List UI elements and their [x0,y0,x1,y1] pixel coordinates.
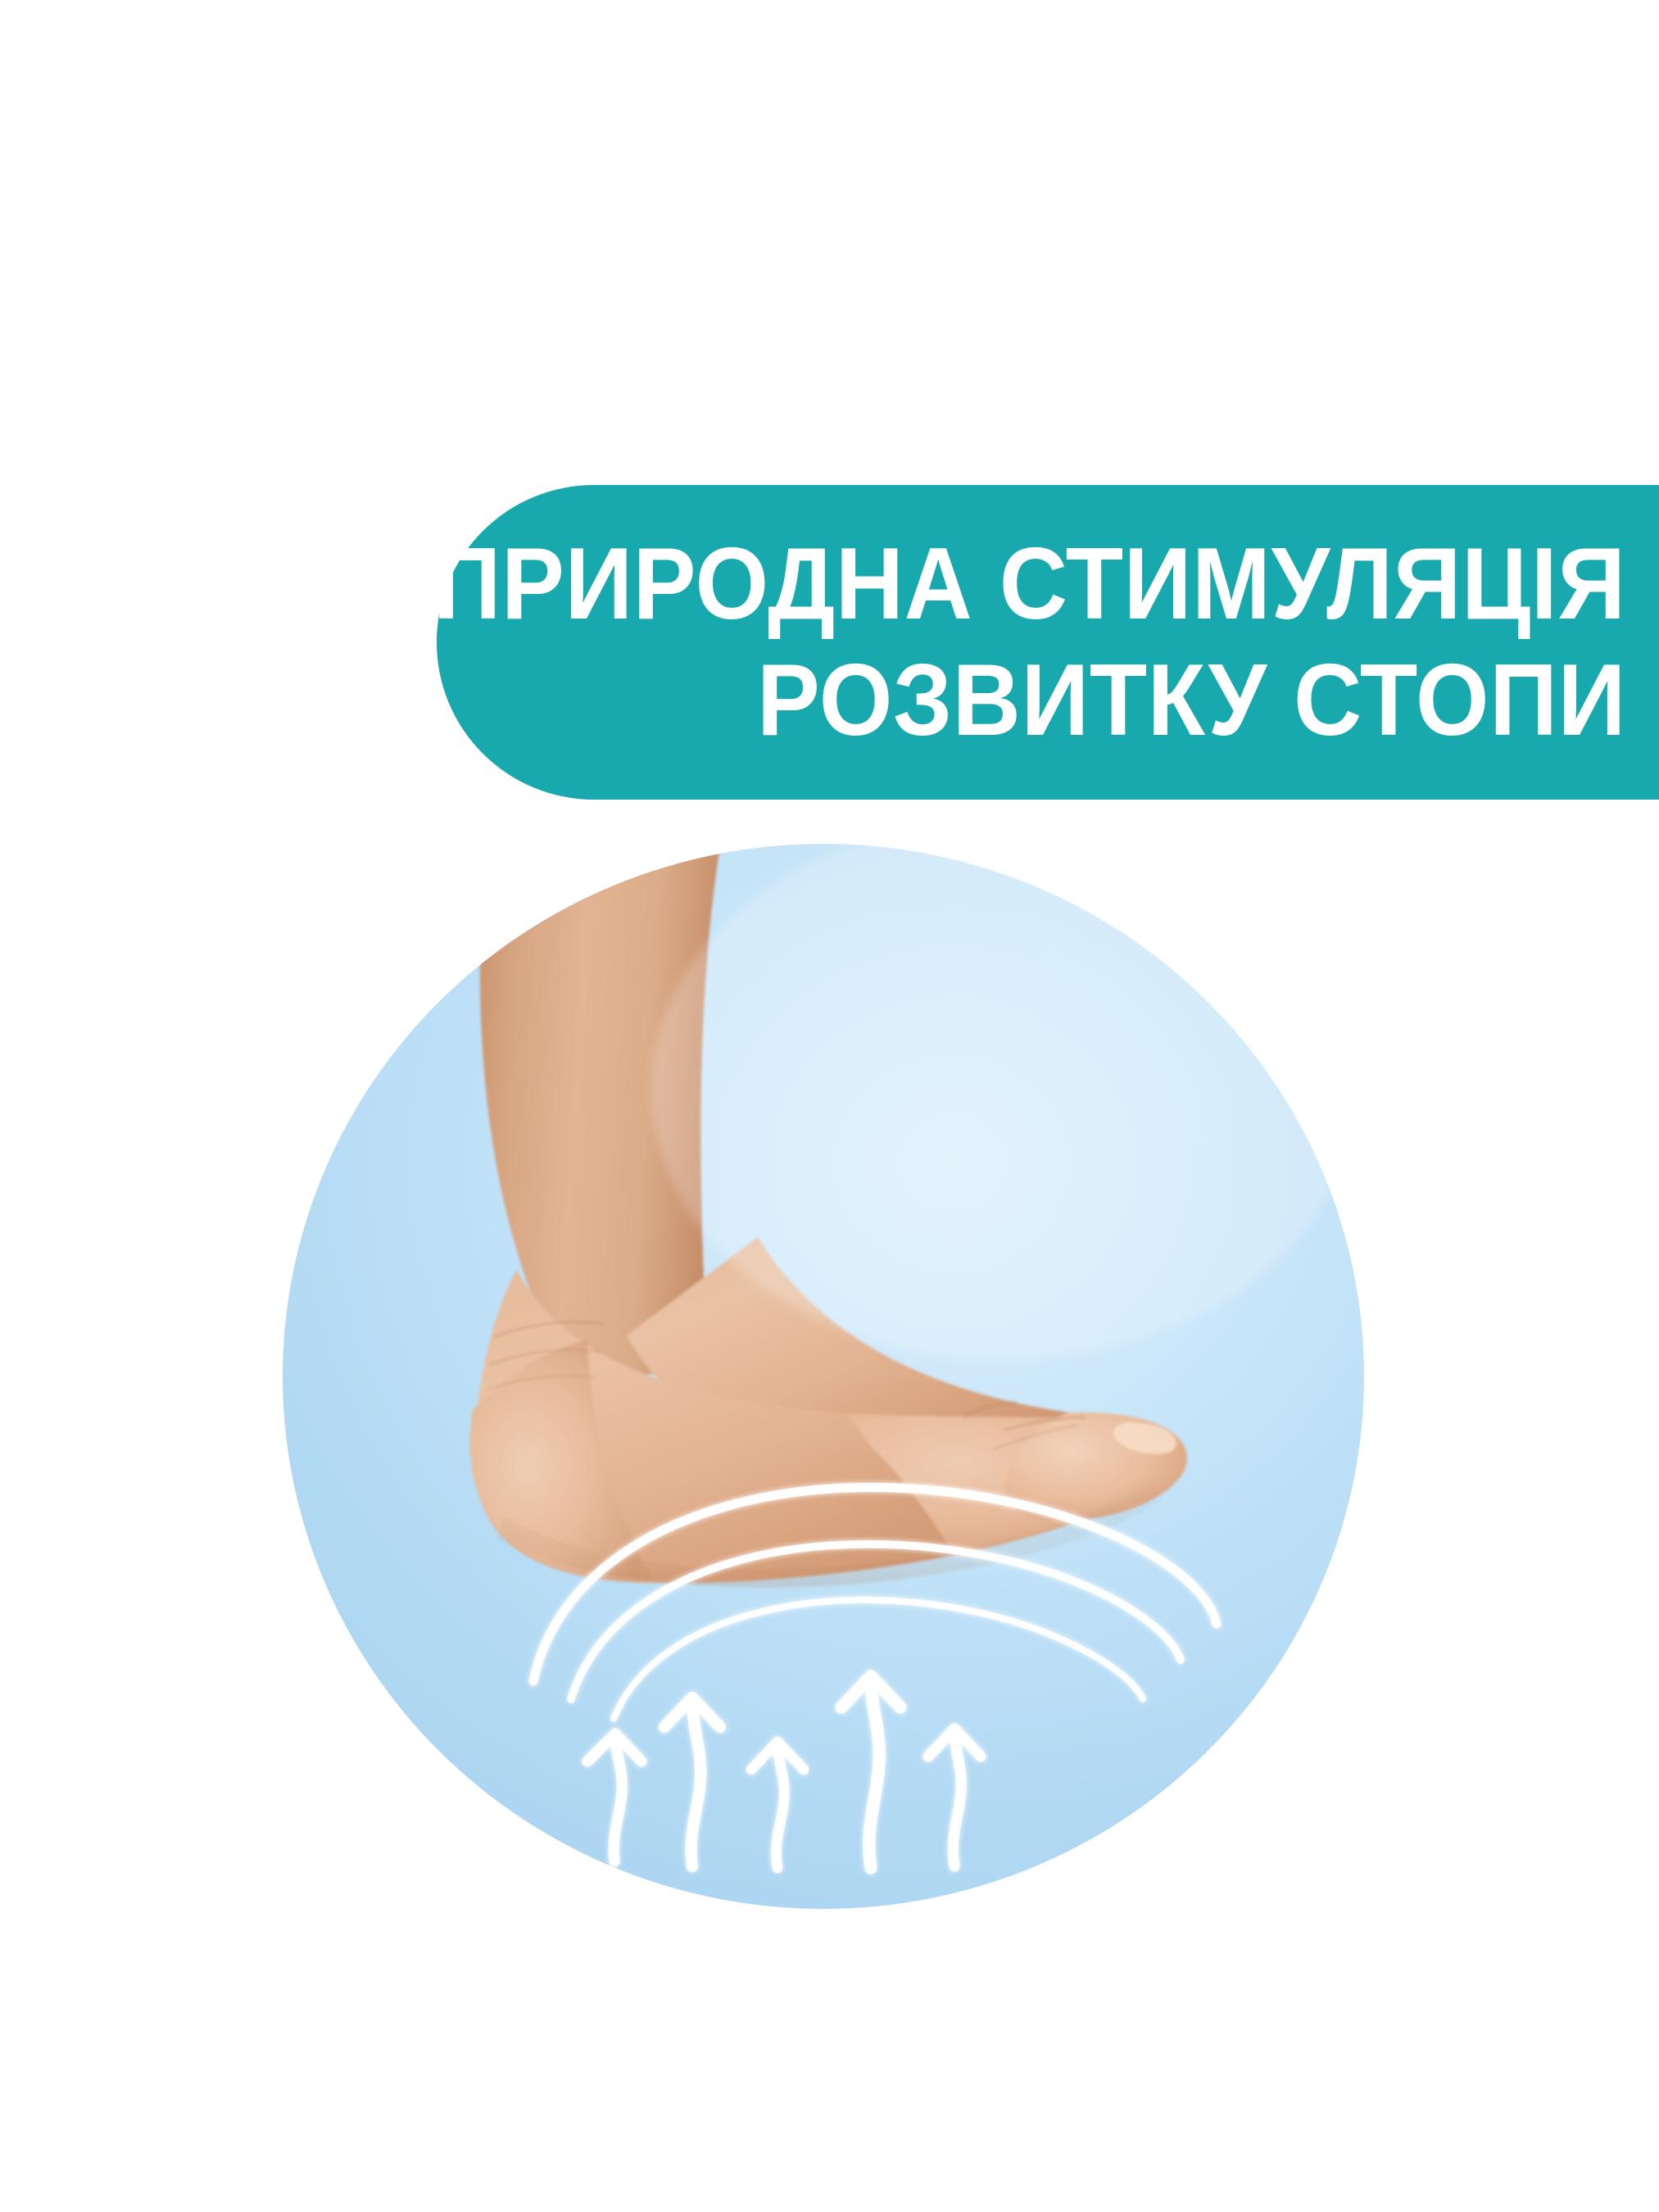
poster-canvas: ПРИРОДНА СТИМУЛЯЦІЯ РОЗВИТКУ СТОПИ [0,0,1659,2212]
headline-banner: ПРИРОДНА СТИМУЛЯЦІЯ РОЗВИТКУ СТОПИ [437,485,1659,800]
circle-plate-icon [283,844,1364,1909]
headline-line-1: ПРИРОДНА СТИМУЛЯЦІЯ [433,533,1626,635]
up-arrow-icon [587,1676,981,1868]
headline-line-2: РОЗВИТКУ СТОПИ [757,650,1626,751]
